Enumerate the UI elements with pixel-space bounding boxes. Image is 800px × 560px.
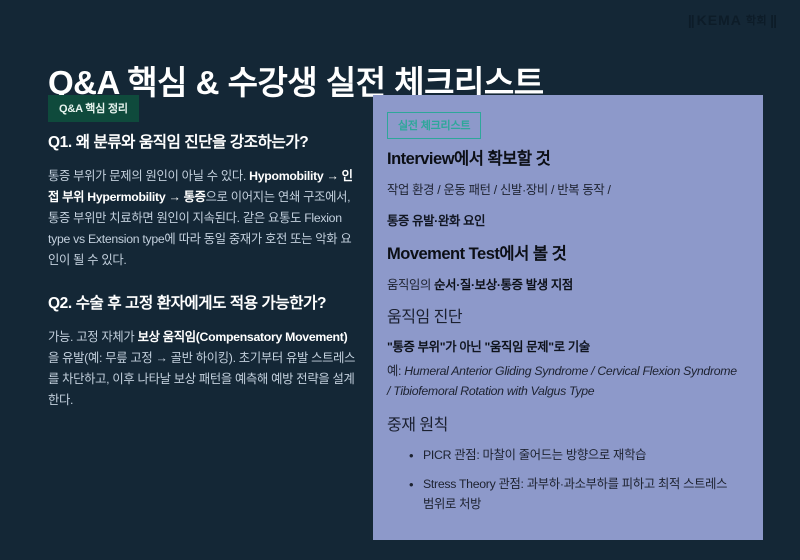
list-item: PICR 관점: 마찰이 줄어드는 방향으로 재학습	[409, 446, 741, 466]
movement-test-section-title: Movement Test에서 볼 것	[387, 244, 741, 265]
logo-right-bars-icon: ||	[770, 12, 776, 28]
list-item: Stress Theory 관점: 과부하·과소부하를 피하고 최적 스트레스 …	[409, 475, 741, 515]
qa-summary-badge: Q&A 핵심 정리	[48, 95, 139, 122]
movement-diagnosis-quote-1: "통증 부위"	[387, 340, 445, 354]
question-1-body-text-a: 통증 부위가 문제의 원인이 아닐 수 있다.	[48, 169, 249, 183]
right-panel: 실전 체크리스트 Interview에서 확보할 것 작업 환경 / 운동 패턴…	[373, 95, 763, 540]
movement-test-line: 움직임의 순서·질·보상·통증 발생 지점	[387, 276, 741, 296]
example-label: 예:	[387, 364, 404, 378]
left-column: Q&A 핵심 정리 Q1. 왜 분류와 움직임 진단을 강조하는가? 통증 부위…	[48, 95, 358, 433]
question-2-body-text-a: 가능. 고정 자체가	[48, 330, 138, 344]
movement-diagnosis-tail: 로 기술	[554, 340, 590, 354]
checklist-badge: 실전 체크리스트	[387, 112, 481, 139]
interview-line-2: 통증 유발·완화 요인	[387, 212, 741, 232]
logo-kema-text: KEMA	[697, 12, 742, 28]
content-columns: Q&A 핵심 정리 Q1. 왜 분류와 움직임 진단을 강조하는가? 통증 부위…	[0, 95, 800, 540]
brand-logo: || KEMA 학회 ||	[688, 12, 776, 28]
movement-test-line-emphasis: 순서·질·보상·통증 발생 지점	[434, 278, 573, 292]
question-2-heading: Q2. 수술 후 고정 환자에게도 적용 가능한가?	[48, 294, 358, 315]
interview-section-title: Interview에서 확보할 것	[387, 149, 741, 170]
interview-line-1: 작업 환경 / 운동 패턴 / 신발·장비 / 반복 동작 /	[387, 181, 741, 201]
movement-diagnosis-quote-2: "움직임 문제"	[485, 340, 554, 354]
logo-left-bars-icon: ||	[688, 12, 694, 28]
question-2-body-text-b: 을 유발(예: 무릎 고정 → 골반 하이킹). 초기부터 유발 스트레스를 차…	[48, 351, 355, 407]
question-1-body: 통증 부위가 문제의 원인이 아닐 수 있다. Hypomobility → 인…	[48, 166, 358, 272]
question-2-body-emphasis: 보상 움직임(Compensatory Movement)	[138, 330, 348, 344]
question-1-heading: Q1. 왜 분류와 움직임 진단을 강조하는가?	[48, 133, 358, 154]
movement-diagnosis-examples: 예: Humeral Anterior Gliding Syndrome / C…	[387, 362, 741, 402]
movement-diagnosis-description: "통증 부위"가 아닌 "움직임 문제"로 기술	[387, 338, 741, 358]
intervention-principles-subtitle: 중재 원칙	[387, 416, 741, 436]
example-italic-text: Humeral Anterior Gliding Syndrome / Cerv…	[387, 364, 737, 398]
slide-root: || KEMA 학회 || Q&A 핵심 & 수강생 실전 체크리스트 Q&A …	[0, 0, 800, 560]
question-2-body: 가능. 고정 자체가 보상 움직임(Compensatory Movement)…	[48, 327, 358, 412]
movement-diagnosis-subtitle: 움직임 진단	[387, 308, 741, 328]
movement-test-line-prefix: 움직임의	[387, 278, 434, 292]
logo-suffix-text: 학회	[746, 12, 767, 28]
movement-diagnosis-mid: 가 아닌	[445, 340, 484, 354]
intervention-principles-list: PICR 관점: 마찰이 줄어드는 방향으로 재학습 Stress Theory…	[387, 446, 741, 515]
